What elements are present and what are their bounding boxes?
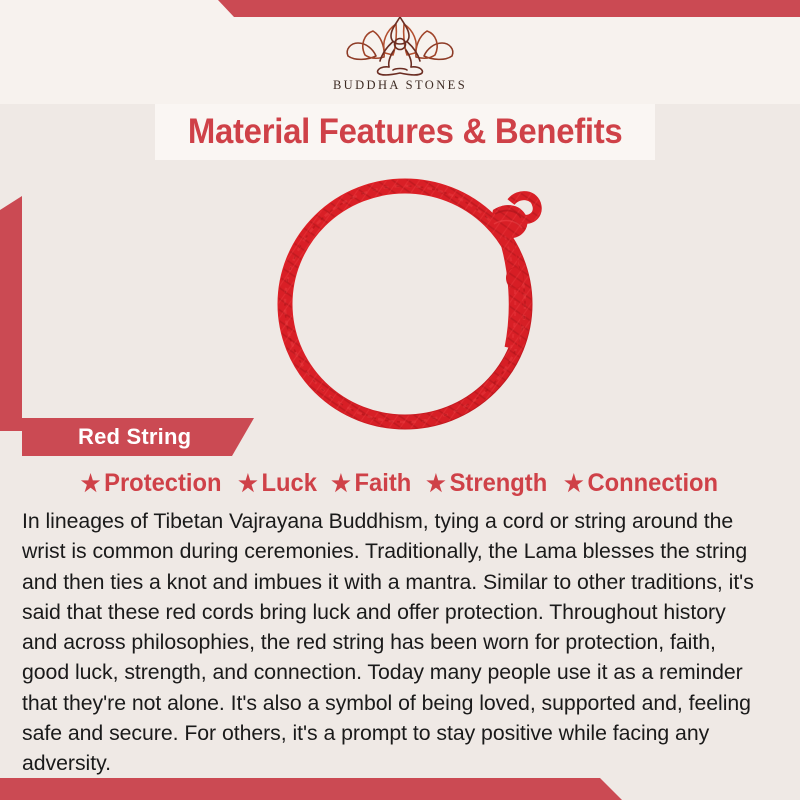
benefit-item: ★ Connection [560,469,724,498]
star-icon: ★ [564,472,584,495]
description-text: In lineages of Tibetan Vajrayana Buddhis… [22,506,763,779]
benefit-item: ★ Luck [233,469,321,498]
benefit-item: ★ Strength [421,469,552,498]
brand-logo: BUDDHA STONES [300,14,500,93]
red-braided-string-bracelet-image [243,158,583,430]
material-label-banner: Red String [22,418,254,456]
title-banner: Material Features & Benefits [155,104,655,160]
benefit-label: Strength [450,469,548,498]
benefit-label: Connection [588,469,719,498]
benefit-label: Faith [354,469,411,498]
star-icon: ★ [238,472,258,495]
left-accent-band [0,196,22,431]
benefit-item: ★ Faith [326,469,416,498]
description-block: In lineages of Tibetan Vajrayana Buddhis… [22,506,774,779]
star-icon: ★ [426,472,446,495]
material-label: Red String [22,424,191,450]
star-icon: ★ [81,472,101,495]
star-icon: ★ [331,472,351,495]
benefit-item: ★ Protection [76,469,226,498]
benefit-label: Protection [105,469,222,498]
infographic-page: BUDDHA STONES Material Features & Benefi… [0,0,800,800]
lotus-meditation-icon [341,14,459,76]
page-title: Material Features & Benefits [188,112,623,152]
benefit-label: Luck [261,469,316,498]
benefits-list: ★ Protection ★ Luck ★ Faith ★ Strength ★… [0,463,800,503]
bottom-accent-band [0,778,800,800]
brand-name: BUDDHA STONES [300,78,500,93]
product-image [0,160,800,425]
